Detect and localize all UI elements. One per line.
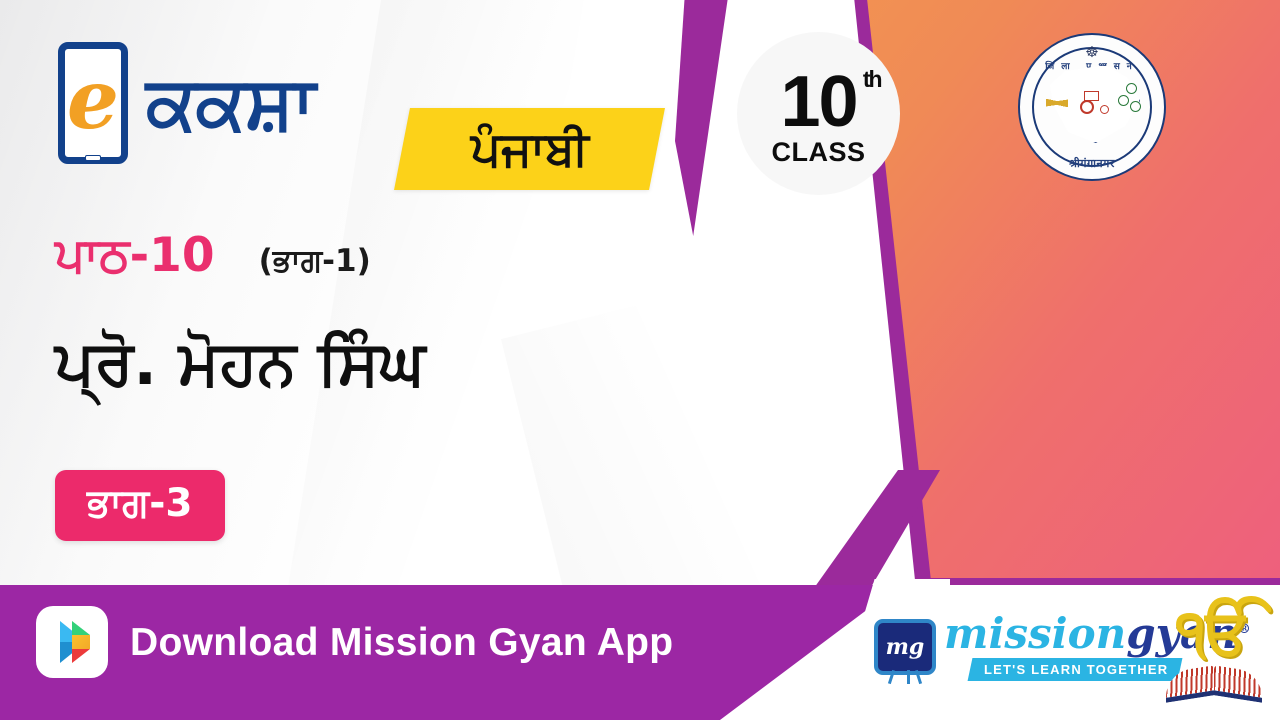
missiongyan-tagline: LET'S LEARN TOGETHER xyxy=(984,662,1168,677)
page-title: ਪ੍ਰੋ. ਮੋਹਨ ਸਿੰਘ xyxy=(55,328,425,397)
segment-badge: ਭਾਗ-3 xyxy=(55,470,225,541)
missiongyan-name-part1: mission xyxy=(944,609,1126,658)
ik-onkar-book-logo: ੴ xyxy=(1166,601,1262,701)
slide-canvas: mg mg 10th CLASS ☸ जिला प्रशासन श्रीगंगा… xyxy=(0,0,1280,720)
wheat-icon xyxy=(1046,81,1068,125)
logo-letter-e: e xyxy=(65,49,121,157)
ekaksha-logo: e ਕਕਸ਼ਾ xyxy=(58,42,314,164)
phone-camera xyxy=(111,44,115,48)
emblem-bottom-text: श्रीगंगानगर xyxy=(1020,156,1164,171)
smartphone-icon: e xyxy=(58,42,128,164)
google-play-icon[interactable] xyxy=(36,606,108,678)
ik-onkar-icon: ੴ xyxy=(1176,601,1251,663)
mg-board-text: mg xyxy=(886,634,925,660)
footer-bar: Download Mission Gyan App mg missiongyan… xyxy=(0,585,1280,720)
subject-label: ਪੰਜਾਬੀ xyxy=(471,126,589,173)
lesson-number: ਪਾਠ-10 xyxy=(55,232,215,279)
class-number: 10th xyxy=(780,66,856,138)
cotton-icon xyxy=(1118,83,1142,123)
download-cta[interactable]: Download Mission Gyan App xyxy=(36,606,673,678)
lesson-heading-row: ਪਾਠ-10 (ਭਾਗ-1) xyxy=(55,232,371,279)
phone-home-button xyxy=(85,155,101,161)
phone-speaker xyxy=(78,44,108,47)
missiongyan-tagline-ribbon: LET'S LEARN TOGETHER xyxy=(968,658,1183,681)
class-word: CLASS xyxy=(771,139,865,166)
lesson-part: (ਭਾਗ-1) xyxy=(259,246,371,277)
open-book-icon xyxy=(1166,665,1262,699)
mg-board-icon: mg xyxy=(874,619,936,675)
subject-badge: ਪੰਜਾਬੀ xyxy=(394,108,665,190)
class-superscript: th xyxy=(863,68,881,91)
tractor-icon xyxy=(1078,91,1114,113)
district-emblem: ☸ जिला प्रशासन श्रीगंगानगर xyxy=(1018,33,1166,181)
download-label[interactable]: Download Mission Gyan App xyxy=(130,623,673,662)
logo-wordmark: ਕਕਸ਼ਾ xyxy=(146,66,314,140)
class-badge: 10th CLASS xyxy=(737,32,900,195)
